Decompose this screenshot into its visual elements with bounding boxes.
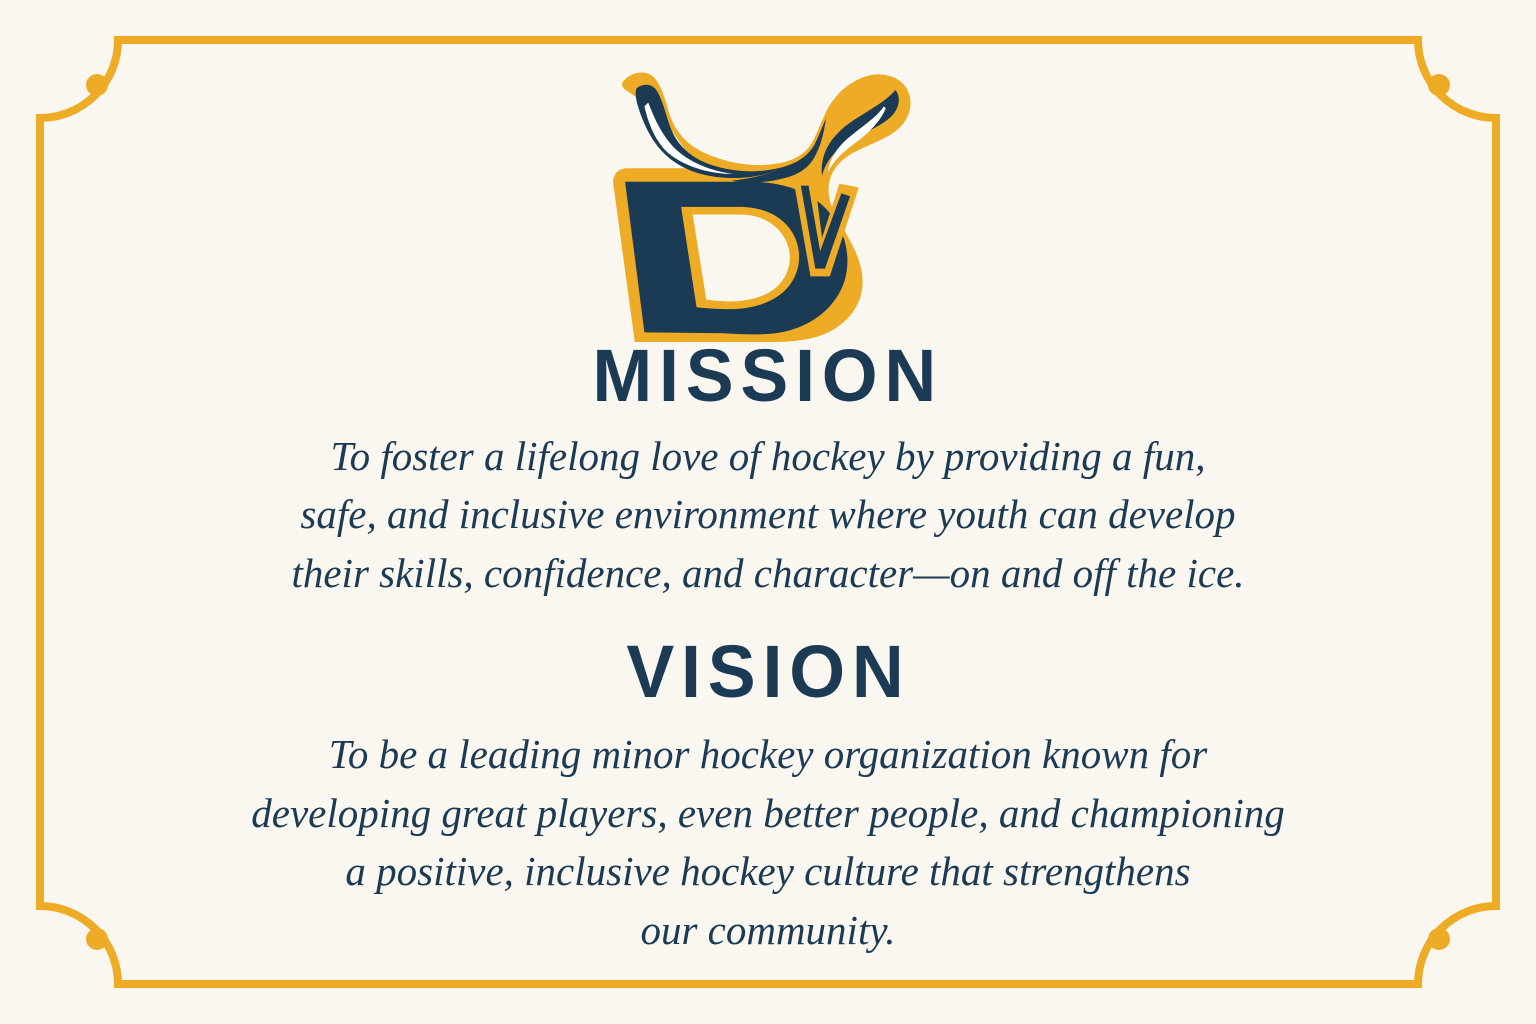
mission-statement: To foster a lifelong love of hockey by p… bbox=[291, 427, 1244, 603]
mission-vision-card: MISSION To foster a lifelong love of hoc… bbox=[0, 0, 1536, 1024]
vision-heading: VISION bbox=[626, 636, 910, 709]
card-content: MISSION To foster a lifelong love of hoc… bbox=[0, 0, 1536, 1024]
mission-heading: MISSION bbox=[593, 340, 944, 413]
vision-statement: To be a leading minor hockey organizatio… bbox=[251, 725, 1284, 960]
dv-whale-tail-logo bbox=[603, 62, 933, 342]
